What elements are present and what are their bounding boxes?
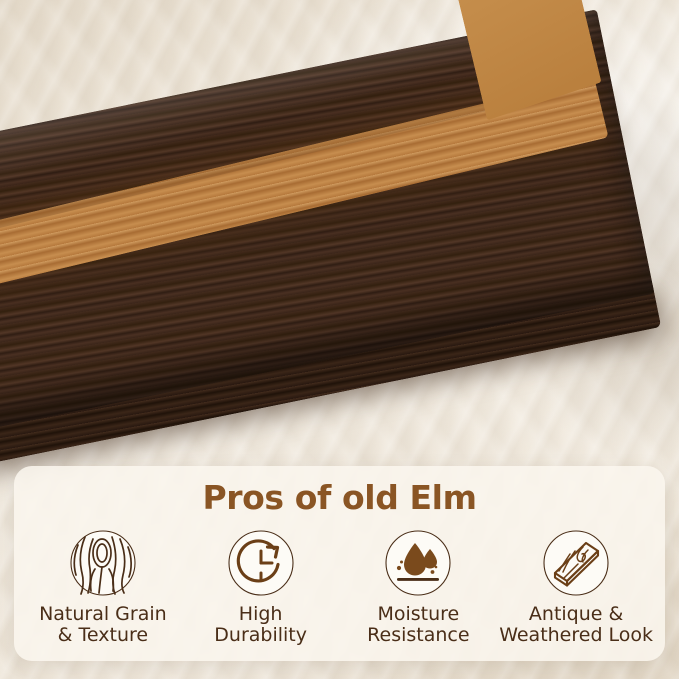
clock-refresh-icon	[227, 529, 295, 597]
page-title: Pros of old Elm	[14, 466, 665, 517]
pro-item-antique-look: Antique & Weathered Look	[497, 529, 655, 647]
pro-item-moisture-resistance: Moisture Resistance	[340, 529, 498, 647]
pro-label-natural-grain: Natural Grain & Texture	[39, 604, 167, 647]
wood-grain-icon	[69, 529, 137, 597]
pro-label-moisture-resistance: Moisture Resistance	[367, 604, 469, 647]
pro-label-antique-look: Antique & Weathered Look	[499, 604, 653, 647]
water-droplet-icon	[384, 529, 452, 597]
pro-item-high-durability: High Durability	[182, 529, 340, 647]
product-photo-scene: Pros of old Elm	[0, 0, 679, 679]
pros-list: Natural Grain & Texture High Durab	[14, 517, 665, 647]
pros-card: Pros of old Elm	[14, 466, 665, 661]
pro-item-natural-grain: Natural Grain & Texture	[24, 529, 182, 647]
wood-plank-icon	[542, 529, 610, 597]
pro-label-high-durability: High Durability	[214, 604, 307, 647]
